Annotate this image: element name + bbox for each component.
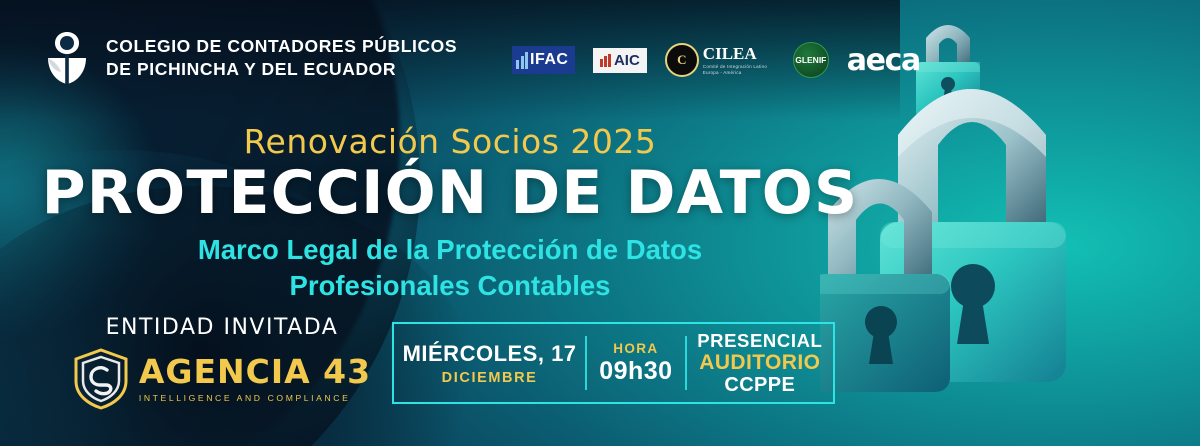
- kicker-text: Renovación Socios 2025: [0, 122, 900, 161]
- cilea-seal-icon: C: [665, 43, 699, 77]
- subhead-line2: Profesionales Contables: [0, 268, 900, 304]
- logo-aic-label: AIC: [614, 52, 640, 69]
- logo-cilea: C CILEA Comité de Integración Latino Eur…: [665, 43, 775, 77]
- organization-header: COLEGIO DE CONTADORES PÚBLICOS DE PICHIN…: [44, 30, 457, 86]
- logo-glenif-label: GLENIF: [795, 55, 826, 65]
- logo-aeca: aeca: [847, 43, 920, 78]
- event-date-day: MIÉRCOLES, 17: [403, 341, 577, 367]
- divider-2: [685, 336, 687, 390]
- organization-name-line1: COLEGIO DE CONTADORES PÚBLICOS: [106, 35, 457, 58]
- subhead-text: Marco Legal de la Protección de Datos Pr…: [0, 232, 900, 304]
- subhead-line1: Marco Legal de la Protección de Datos: [0, 232, 900, 268]
- event-details-box: MIÉRCOLES, 17 DICIEMBRE HORA 09h30 PRESE…: [392, 322, 835, 404]
- logo-glenif: GLENIF: [793, 42, 829, 78]
- event-hour: HORA 09h30: [587, 324, 685, 402]
- guest-entity-logo: AGENCIA 43 INTELLIGENCE AND COMPLIANCE: [72, 348, 372, 410]
- ccppe-tree-logo-icon: [44, 30, 90, 86]
- ifac-mark-icon: [516, 52, 528, 69]
- event-hour-value: 09h30: [599, 357, 672, 386]
- agencia43-shield-icon: [73, 348, 129, 410]
- event-date-month: DICIEMBRE: [442, 370, 538, 386]
- event-banner: COLEGIO DE CONTADORES PÚBLICOS DE PICHIN…: [0, 0, 1200, 446]
- headline-text: PROTECCIÓN DE DATOS: [0, 158, 900, 228]
- logo-cilea-label: CILEA: [703, 44, 757, 63]
- guest-entity-block: ENTIDAD INVITADA AGENCIA 43 INTELLIGENCE…: [72, 315, 372, 410]
- logo-cilea-sub: Comité de Integración Latino Europa - Am…: [703, 64, 775, 75]
- logo-ifac: IFAC: [512, 46, 575, 74]
- event-mode: PRESENCIAL: [697, 330, 822, 352]
- organization-name: COLEGIO DE CONTADORES PÚBLICOS DE PICHIN…: [106, 35, 457, 81]
- association-logos: IFAC AIC C CILEA Comité de Integración L…: [512, 42, 920, 78]
- logo-ifac-label: IFAC: [530, 51, 568, 69]
- aic-mark-icon: [600, 54, 611, 67]
- organization-name-line2: DE PICHINCHA Y DEL ECUADOR: [106, 58, 457, 81]
- event-venue-line1: AUDITORIO: [699, 352, 820, 375]
- guest-entity-name: AGENCIA 43: [139, 355, 371, 388]
- event-date: MIÉRCOLES, 17 DICIEMBRE: [394, 324, 585, 402]
- guest-entity-tagline: INTELLIGENCE AND COMPLIANCE: [139, 393, 371, 403]
- event-hour-label: HORA: [613, 341, 658, 356]
- divider-1: [585, 336, 587, 390]
- event-venue: PRESENCIAL AUDITORIO CCPPE: [687, 324, 833, 402]
- guest-entity-label: ENTIDAD INVITADA: [72, 315, 372, 340]
- logo-aic: AIC: [593, 48, 646, 73]
- event-venue-line2: CCPPE: [724, 374, 795, 396]
